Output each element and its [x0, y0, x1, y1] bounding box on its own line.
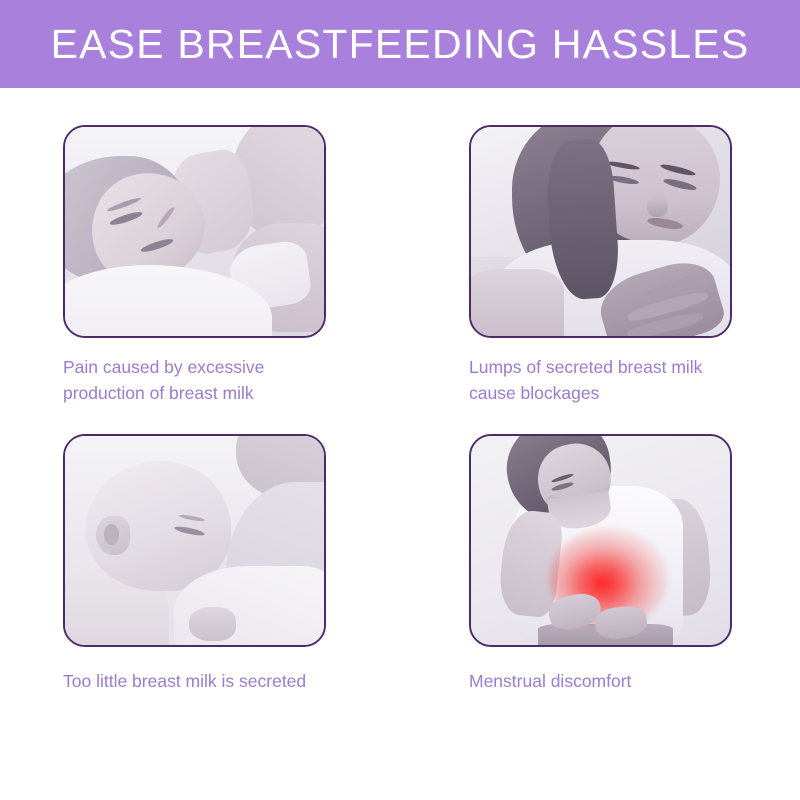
card-caption: Menstrual discomfort — [469, 669, 732, 695]
photo-baby-breastfeeding-icon — [65, 436, 324, 645]
card-image-frame — [469, 125, 732, 338]
feature-card-excessive-production: Pain caused by excessive production of b… — [63, 125, 326, 406]
card-caption: Too little breast milk is secreted — [63, 669, 326, 695]
card-image-frame — [469, 434, 732, 647]
card-caption: Lumps of secreted breast milk cause bloc… — [469, 355, 732, 406]
card-caption: Pain caused by excessive production of b… — [63, 355, 326, 406]
feature-card-menstrual-discomfort: Menstrual discomfort — [469, 434, 732, 695]
card-image-frame — [63, 125, 326, 338]
feature-card-blockages: Lumps of secreted breast milk cause bloc… — [469, 125, 732, 406]
feature-cards-grid: Pain caused by excessive production of b… — [0, 88, 800, 695]
photo-woman-holding-chest-icon — [471, 127, 730, 336]
page-title: EASE BREASTFEEDING HASSLES — [51, 24, 750, 65]
photo-woman-lying-on-pillow-icon — [65, 127, 324, 336]
card-image-frame — [63, 434, 326, 647]
feature-card-low-supply: Too little breast milk is secreted — [63, 434, 326, 695]
photo-woman-abdominal-pain-icon — [471, 436, 730, 645]
header-banner: EASE BREASTFEEDING HASSLES — [0, 0, 800, 88]
